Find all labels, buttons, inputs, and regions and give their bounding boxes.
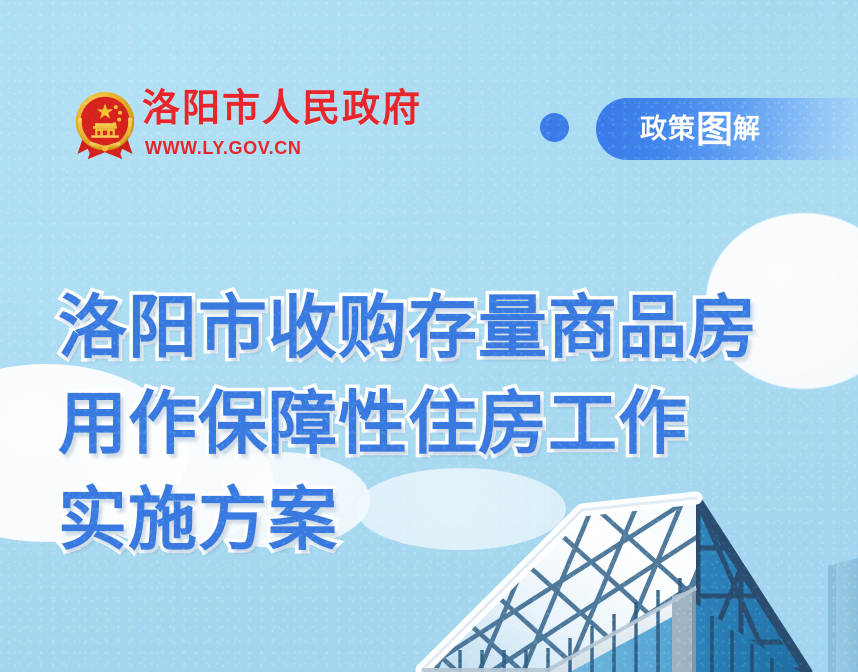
title-line-1: 洛阳市收购存量商品房 [58, 280, 818, 376]
policy-tag-badge[interactable]: 政策图解 [596, 98, 858, 160]
glass-roof-building-illustration [396, 470, 858, 672]
gov-name-text: 洛阳市人民政府 [142, 89, 422, 127]
poster-header: 洛阳市人民政府 WWW.LY.GOV.CN 政策图解 [0, 0, 858, 180]
policy-tag-emphasis: 图 [696, 108, 733, 151]
title-line-2: 用作保障性住房工作 [58, 376, 818, 472]
policy-poster: 洛阳市人民政府 WWW.LY.GOV.CN 政策图解 洛阳市收购存量商品房 用作… [0, 0, 858, 672]
gov-url-text: WWW.LY.GOV.CN [145, 139, 302, 157]
decorative-dot [540, 113, 569, 142]
policy-tag-prefix: 政策 [640, 114, 696, 145]
policy-tag-label: 政策图解 [640, 111, 761, 148]
national-emblem-icon [62, 80, 148, 166]
policy-tag-suffix: 解 [733, 114, 761, 145]
